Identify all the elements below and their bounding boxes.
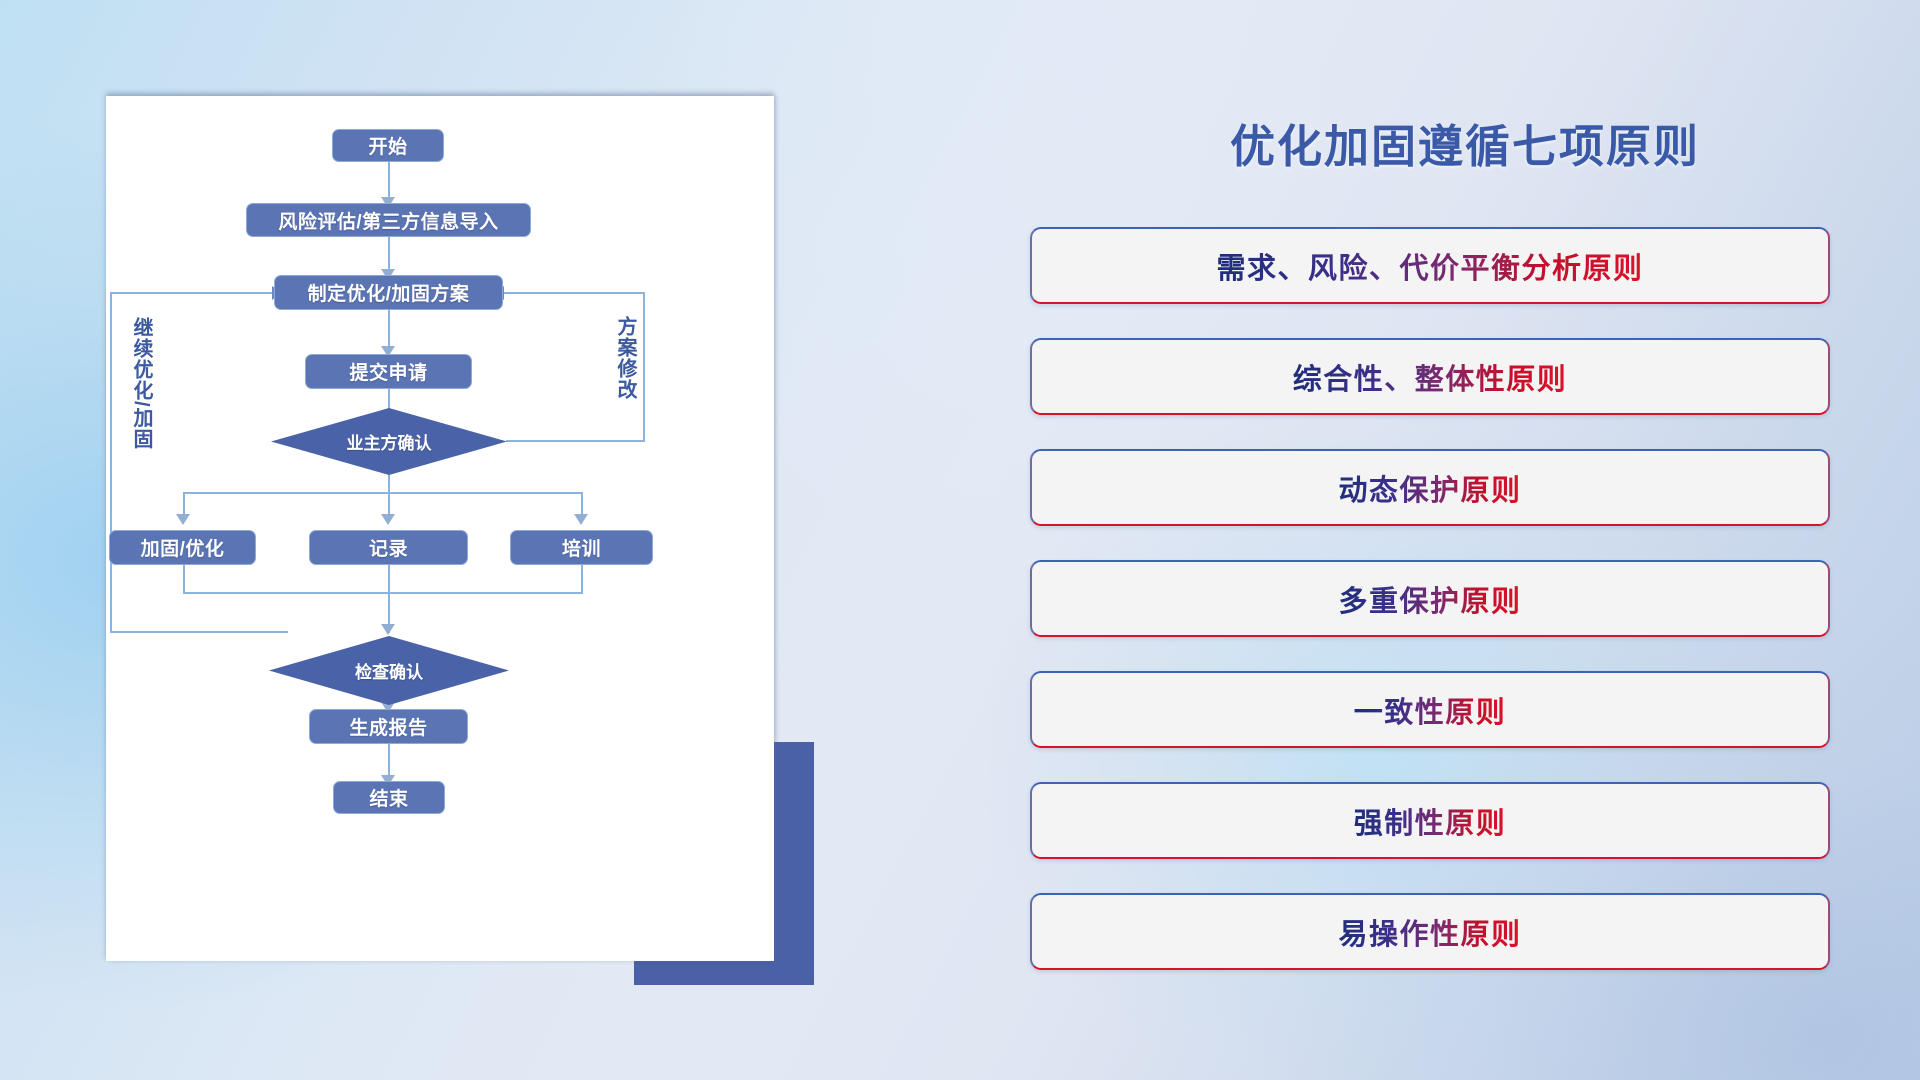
principle-card-3-label: 动态保护原则 xyxy=(1338,467,1521,509)
connector-left-loop-vertical xyxy=(110,292,112,633)
flow-node-reinforce-optimize-label: 加固/优化 xyxy=(141,534,225,561)
flow-node-end-label: 结束 xyxy=(369,784,408,811)
principle-card-1[interactable]: 需求、风险、代价平衡分析原则 xyxy=(1030,227,1830,304)
flow-node-start[interactable]: 开始 xyxy=(332,129,444,162)
principle-card-2[interactable]: 综合性、整体性原则 xyxy=(1030,338,1830,415)
flow-node-end[interactable]: 结束 xyxy=(333,781,445,814)
principle-card-6[interactable]: 强制性原则 xyxy=(1030,782,1830,859)
flow-edge-label-continue-optimize: 继续优化/加固 xyxy=(127,317,156,450)
flow-node-owner-confirm-label: 业主方确认 xyxy=(347,429,432,454)
flow-node-plan[interactable]: 制定优化/加固方案 xyxy=(274,275,503,310)
connector-reinforce-down xyxy=(183,564,185,592)
principle-card-5[interactable]: 一致性原则 xyxy=(1030,671,1830,748)
flow-node-record[interactable]: 记录 xyxy=(309,530,468,565)
principles-list: 需求、风险、代价平衡分析原则 综合性、整体性原则 动态保护原则 多重保护原则 一… xyxy=(1030,227,1830,1004)
principle-card-2-label: 综合性、整体性原则 xyxy=(1293,356,1568,398)
flow-node-plan-label: 制定优化/加固方案 xyxy=(308,279,470,306)
connector-merge-bar xyxy=(183,592,583,594)
flow-node-owner-confirm[interactable]: 业主方确认 xyxy=(271,408,507,475)
connector-left-loop-bottom xyxy=(110,631,288,633)
principles-title: 优化加固遵循七项原则 xyxy=(1010,110,1920,175)
flow-node-reinforce-optimize[interactable]: 加固/优化 xyxy=(109,530,256,565)
connector-right-loop-vertical xyxy=(643,292,645,442)
flow-node-training-label: 培训 xyxy=(562,534,601,561)
connector-training-down xyxy=(581,564,583,592)
flow-node-training[interactable]: 培训 xyxy=(510,530,653,565)
principle-card-4-label: 多重保护原则 xyxy=(1338,578,1521,620)
flow-node-risk-assessment-label: 风险评估/第三方信息导入 xyxy=(278,207,498,234)
principle-card-4[interactable]: 多重保护原则 xyxy=(1030,560,1830,637)
connector-owner-down xyxy=(388,474,390,492)
flow-node-submit-application-label: 提交申请 xyxy=(349,358,427,385)
connector-right-loop-bottom xyxy=(506,440,645,442)
arrowhead-to-reinforce xyxy=(176,514,190,525)
flow-node-risk-assessment[interactable]: 风险评估/第三方信息导入 xyxy=(246,203,531,237)
flow-node-generate-report[interactable]: 生成报告 xyxy=(309,709,468,744)
flow-node-start-label: 开始 xyxy=(368,132,407,159)
flowchart-card: 开始 风险评估/第三方信息导入 制定优化/加固方案 提交申请 业主方确认 加固/… xyxy=(106,96,774,961)
arrowhead-to-training xyxy=(574,514,588,525)
flowchart-diagram: 开始 风险评估/第三方信息导入 制定优化/加固方案 提交申请 业主方确认 加固/… xyxy=(106,96,774,961)
principle-card-7[interactable]: 易操作性原则 xyxy=(1030,893,1830,970)
flow-edge-label-plan-modification: 方案修改 xyxy=(611,316,640,400)
flow-node-check-confirm-label: 检查确认 xyxy=(355,658,423,683)
connector-left-loop-top xyxy=(110,292,274,294)
arrowhead-to-check xyxy=(381,624,395,635)
principle-card-3[interactable]: 动态保护原则 xyxy=(1030,449,1830,526)
flow-node-generate-report-label: 生成报告 xyxy=(349,713,427,740)
flow-node-record-label: 记录 xyxy=(369,534,408,561)
connector-fanout-bar xyxy=(183,492,583,494)
principle-card-1-label: 需求、风险、代价平衡分析原则 xyxy=(1216,245,1643,287)
flowchart-panel: 开始 风险评估/第三方信息导入 制定优化/加固方案 提交申请 业主方确认 加固/… xyxy=(0,0,1010,1080)
arrowhead-to-record xyxy=(381,514,395,525)
principle-card-7-label: 易操作性原则 xyxy=(1338,911,1521,953)
principle-card-5-label: 一致性原则 xyxy=(1354,689,1507,731)
flow-node-check-confirm[interactable]: 检查确认 xyxy=(269,636,509,705)
principles-panel: 优化加固遵循七项原则 需求、风险、代价平衡分析原则 综合性、整体性原则 动态保护… xyxy=(1010,0,1920,1080)
connector-right-loop-top xyxy=(504,292,644,294)
connector-record-to-check xyxy=(388,564,390,633)
flow-node-submit-application[interactable]: 提交申请 xyxy=(305,354,472,389)
principle-card-6-label: 强制性原则 xyxy=(1354,800,1507,842)
